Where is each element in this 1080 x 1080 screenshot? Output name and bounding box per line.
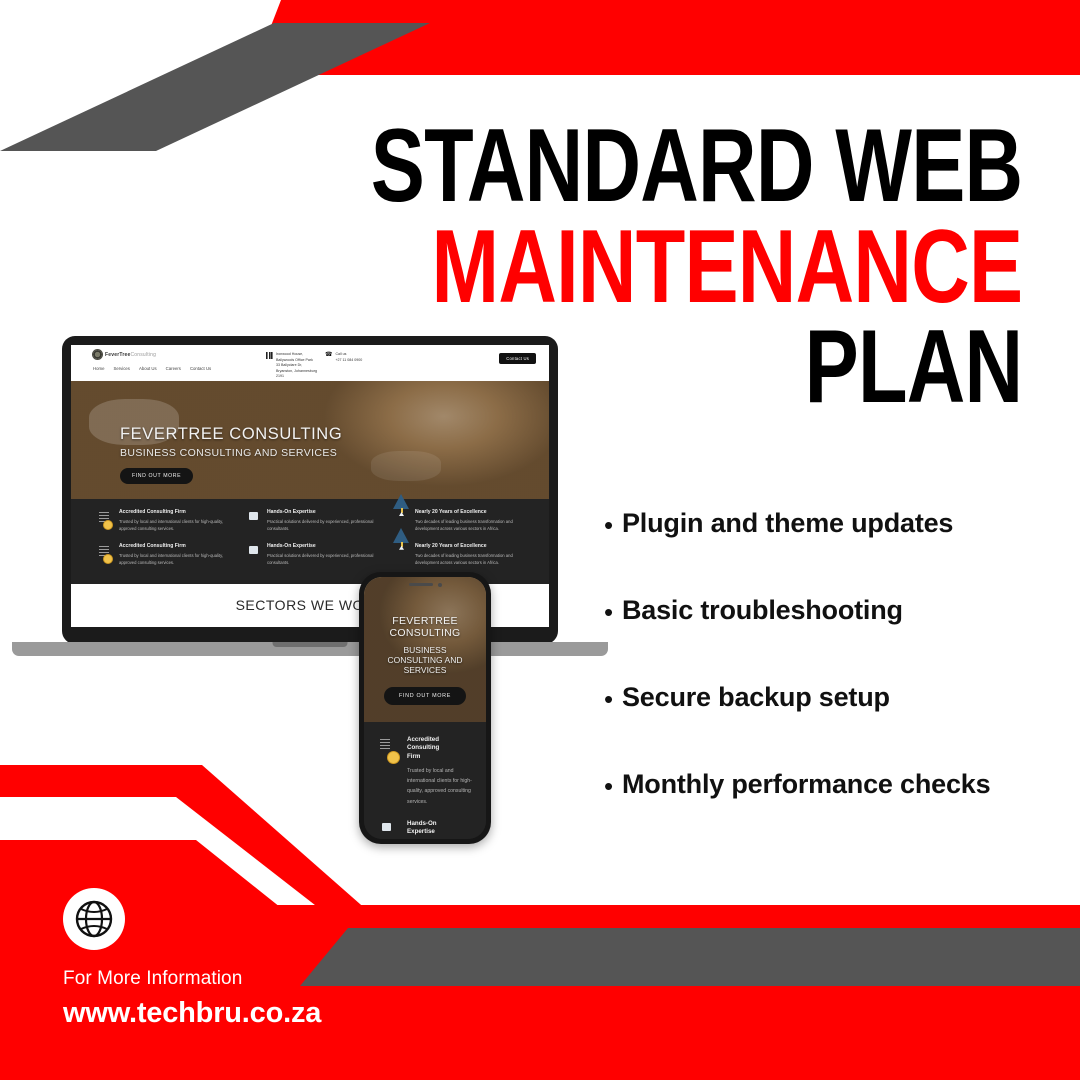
phone-hero-title: FEVERTREE CONSULTING (389, 615, 460, 640)
bottom-gray-diagonal-band (300, 928, 1080, 986)
phone-hero-subtitle-line-3: SERVICES (404, 665, 447, 675)
feature-card-title: Hands-On Expertise (267, 543, 375, 549)
feature-card-title: Accredited Consulting Firm (119, 509, 227, 515)
phone-feature-card: Hands-On Expertise Practical solutions (378, 820, 472, 839)
phone-notch (403, 582, 447, 587)
feature-card: Hands-On Expertise Practical solutions d… (245, 509, 375, 533)
feature-card-title: Hands-On Expertise (267, 509, 375, 515)
site-contact-us-button[interactable]: Contact Us (499, 353, 536, 364)
bullet-label: Plugin and theme updates (622, 508, 953, 539)
call-lines: Call us +27 11 084 0900 (335, 352, 362, 364)
feature-row: Accredited Consulting Firm Trusted by lo… (97, 509, 523, 533)
hero-text: FEVERTREE CONSULTING BUSINESS CONSULTING… (120, 425, 342, 484)
phone-hero: FEVERTREE CONSULTING BUSINESS CONSULTING… (364, 577, 486, 722)
footer-url[interactable]: www.techbru.co.za (63, 997, 321, 1030)
bullet-dot-icon: • (604, 599, 622, 625)
feature-bullet-list: • Plugin and theme updates • Basic troub… (604, 508, 1074, 856)
site-contact-block: Ironwood House, Ballywoods Office Park 3… (266, 352, 362, 380)
hero-find-out-more-button[interactable]: FIND OUT MORE (120, 468, 193, 484)
nav-item-services[interactable]: Services (113, 366, 129, 371)
feature-card-title: Accredited Consulting Firm (119, 543, 227, 549)
address-line-4: Bryanston, Johannesburg (276, 369, 317, 373)
phone-mockup: FEVERTREE CONSULTING BUSINESS CONSULTING… (359, 572, 491, 844)
feature-card-desc: Practical solutions delivered by experie… (267, 518, 375, 533)
globe-icon (74, 899, 114, 939)
phone-hero-title-line-1: FEVERTREE (392, 615, 458, 627)
bullet-label: Basic troubleshooting (622, 595, 903, 626)
laptop-icon (245, 509, 262, 531)
feature-card: Hands-On Expertise Practical solutions d… (245, 543, 375, 567)
feature-card: Nearly 20 Years of Excellence Two decade… (393, 543, 523, 567)
feature-card-title: Nearly 20 Years of Excellence (415, 543, 523, 549)
list-item: • Basic troubleshooting (604, 595, 1074, 626)
website-feature-section: Accredited Consulting Firm Trusted by lo… (71, 499, 549, 584)
phone-hero-subtitle: BUSINESS CONSULTING AND SERVICES (388, 645, 463, 676)
certificate-document-icon (97, 543, 114, 565)
phone-feature-section: Accredited Consulting Firm Trusted by lo… (364, 722, 486, 839)
call-number[interactable]: +27 11 084 0900 (335, 358, 362, 362)
nav-item-contact-us[interactable]: Contact Us (190, 366, 211, 371)
mountain-flag-icon (393, 543, 410, 565)
headline-line-1: STANDARD WEB (370, 118, 1022, 215)
phone-camera-icon (438, 583, 442, 587)
globe-badge (63, 888, 125, 950)
website-hero: FEVERTREE CONSULTING BUSINESS CONSULTING… (71, 381, 549, 499)
list-item: • Monthly performance checks (604, 769, 1074, 800)
sunburst-logo-icon (93, 350, 102, 359)
address-line-2: Ballywoods Office Park (276, 358, 313, 362)
logo-name-light: Consulting (130, 352, 156, 358)
headline-line-2: MAINTENANCE (370, 219, 1022, 316)
call-label: Call us (335, 352, 346, 356)
laptop-icon (245, 543, 262, 565)
bullet-dot-icon: • (604, 773, 622, 799)
phone-feature-title: Hands-On Expertise (407, 820, 472, 837)
certificate-document-icon (378, 736, 400, 766)
phone-find-out-more-button[interactable]: FIND OUT MORE (384, 687, 466, 705)
phone-icon: ☎ (325, 352, 332, 364)
feature-card-desc: Two decades of leading business transfor… (415, 518, 523, 533)
phone-hero-title-line-2: CONSULTING (389, 627, 460, 639)
phone-screen: FEVERTREE CONSULTING BUSINESS CONSULTING… (364, 577, 486, 839)
website-header: FeverTreeConsulting Home Services About … (71, 345, 549, 381)
phone-hero-subtitle-line-2: CONSULTING AND (388, 655, 463, 665)
footer-contact: For More Information www.techbru.co.za (63, 968, 321, 1030)
address-line-1: Ironwood House, (276, 352, 303, 356)
nav-item-home[interactable]: Home (93, 366, 104, 371)
feature-card-desc: Two decades of leading business transfor… (415, 552, 523, 567)
feature-card-desc: Trusted by local and international clien… (119, 552, 227, 567)
feature-card-desc: Trusted by local and international clien… (119, 518, 227, 533)
bullet-dot-icon: • (604, 686, 622, 712)
laptop-trackpad-notch (273, 642, 348, 647)
footer-label: For More Information (63, 968, 321, 990)
hero-subtitle: BUSINESS CONSULTING AND SERVICES (120, 447, 342, 459)
site-address: Ironwood House, Ballywoods Office Park 3… (266, 352, 317, 380)
nav-item-careers[interactable]: Careers (166, 366, 181, 371)
bullet-dot-icon: • (604, 512, 622, 538)
feature-row: Accredited Consulting Firm Trusted by lo… (97, 543, 523, 567)
address-line-3: 33 Ballyclare Dr, (276, 363, 302, 367)
phone-feature-title-line-1: Hands-On (407, 820, 437, 827)
phone-speaker-icon (409, 583, 433, 586)
hero-title: FEVERTREE CONSULTING (120, 425, 342, 444)
address-line-5: 2191 (276, 374, 284, 378)
address-lines: Ironwood House, Ballywoods Office Park 3… (276, 352, 317, 380)
phone-feature-title-line-2: Firm (407, 753, 420, 760)
poster-canvas: STANDARD WEB MAINTENANCE PLAN • Plugin a… (0, 0, 1080, 1080)
feature-card: Accredited Consulting Firm Trusted by lo… (97, 509, 227, 533)
feature-card: Accredited Consulting Firm Trusted by lo… (97, 543, 227, 567)
site-call-block: ☎ Call us +27 11 084 0900 (325, 352, 362, 364)
nav-item-about-us[interactable]: About Us (139, 366, 157, 371)
laptop-icon (378, 820, 400, 839)
phone-feature-desc: Trusted by local and international clien… (407, 766, 472, 807)
phone-feature-title-line-2: Expertise (407, 828, 435, 835)
feature-card: Nearly 20 Years of Excellence Two decade… (393, 509, 523, 533)
phone-feature-title: Accredited Consulting Firm (407, 736, 472, 761)
phone-feature-card: Accredited Consulting Firm Trusted by lo… (378, 736, 472, 807)
phone-feature-title-line-1: Accredited Consulting (407, 736, 439, 751)
list-item: • Plugin and theme updates (604, 508, 1074, 539)
site-logo-text: FeverTreeConsulting (105, 352, 156, 358)
bullet-label: Secure backup setup (622, 682, 890, 713)
bullet-label: Monthly performance checks (622, 769, 990, 800)
list-item: • Secure backup setup (604, 682, 1074, 713)
building-icon (266, 352, 273, 359)
phone-hero-subtitle-line-1: BUSINESS (404, 645, 447, 655)
feature-card-desc: Practical solutions delivered by experie… (267, 552, 375, 567)
logo-name-bold: FeverTree (105, 352, 130, 358)
feature-card-title: Nearly 20 Years of Excellence (415, 509, 523, 515)
certificate-document-icon (97, 509, 114, 531)
